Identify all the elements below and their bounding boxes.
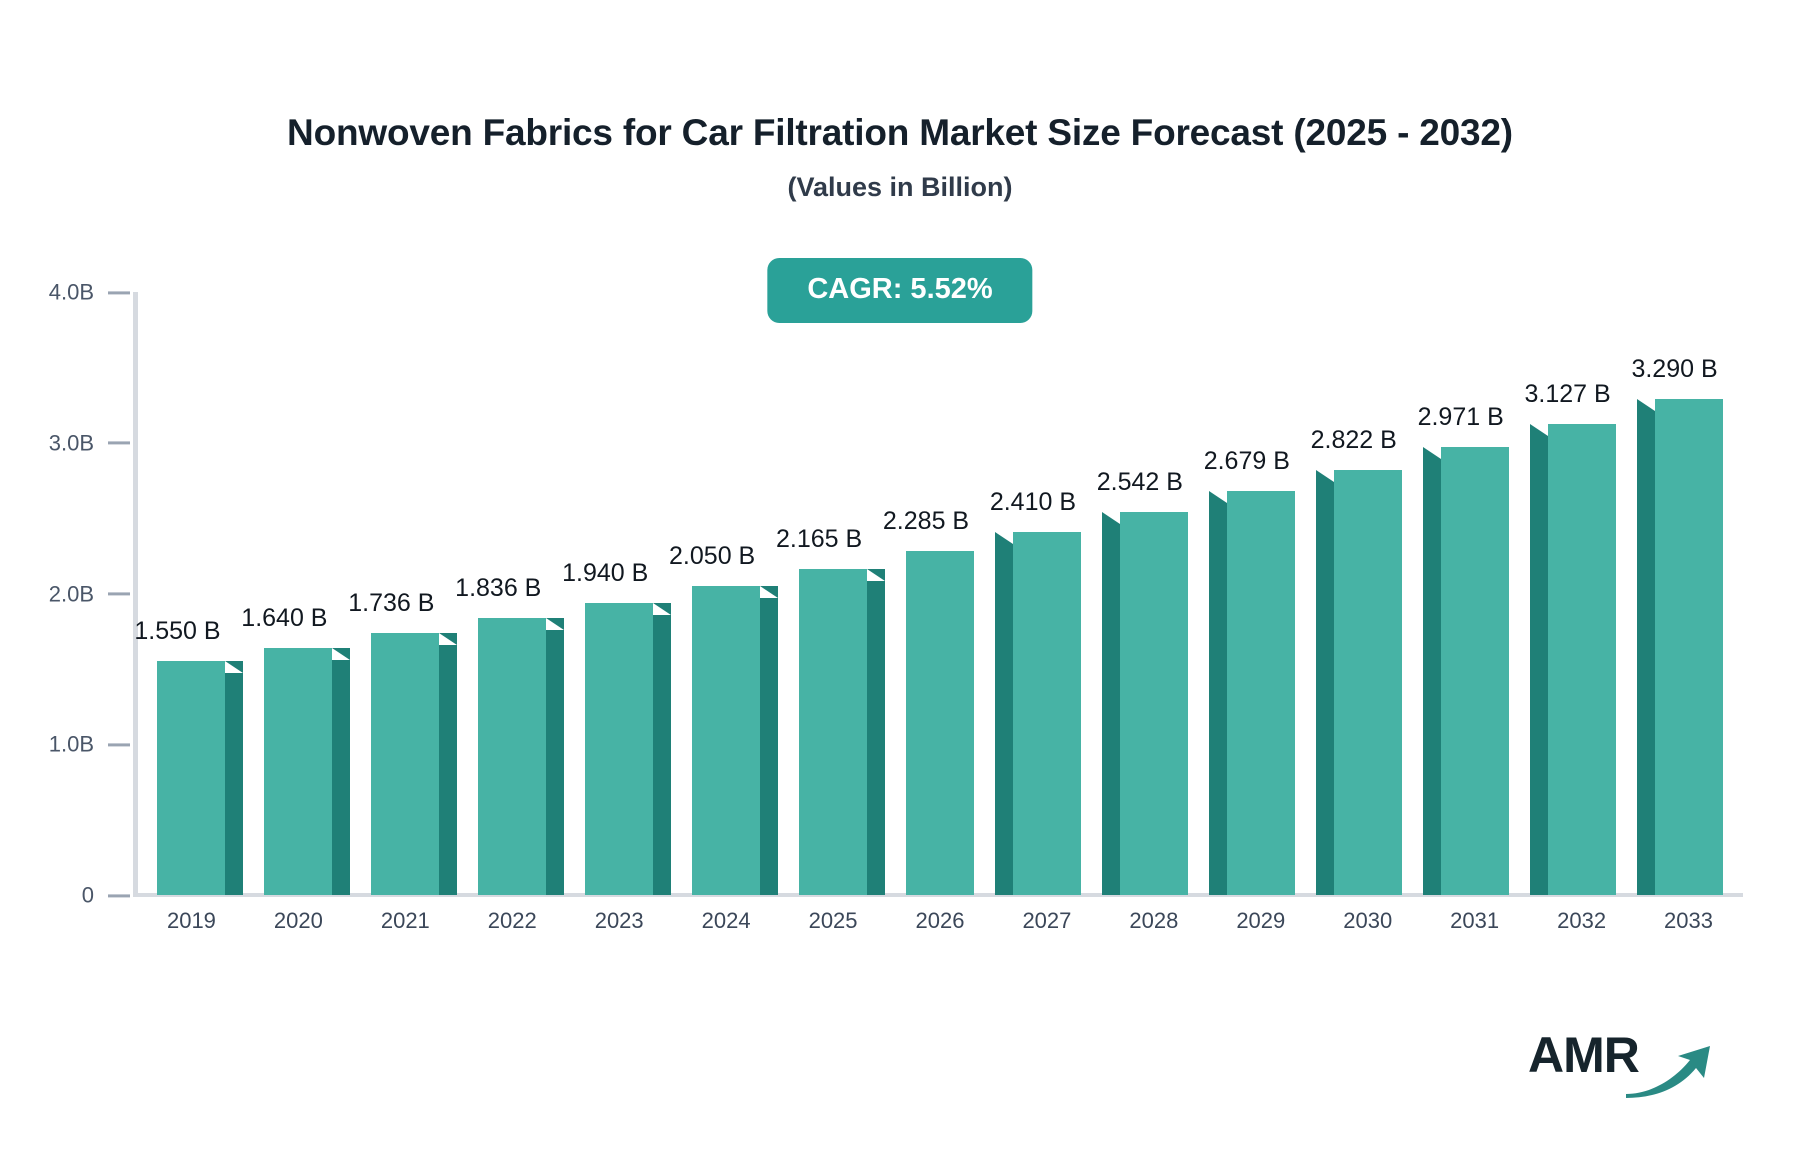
- y-axis-tick-label: 3.0B: [49, 430, 94, 455]
- x-axis-tick-label: 2020: [274, 908, 323, 934]
- bar-value-label: 1.836 B: [455, 574, 541, 603]
- bar-side-face: [1530, 436, 1548, 895]
- bar-side-face: [867, 581, 885, 895]
- bar-side-face: [995, 544, 1013, 895]
- bar-value-label: 2.822 B: [1311, 426, 1397, 455]
- bar-side-face: [332, 660, 350, 895]
- bar-side-face: [653, 615, 671, 895]
- y-axis-tick-label: 0: [82, 883, 94, 908]
- x-axis-tick-label: 2021: [381, 908, 430, 934]
- y-axis-tick-mark: [108, 442, 130, 445]
- bar-top-face: [546, 618, 564, 630]
- bar-side-face: [225, 673, 243, 895]
- bar-top-face: [225, 661, 243, 673]
- bar: [906, 551, 974, 895]
- bar: [1120, 512, 1188, 895]
- bar-value-label: 2.050 B: [669, 542, 755, 571]
- bar-side-face: [546, 630, 564, 895]
- bar-top-face: [653, 603, 671, 615]
- bar: [157, 661, 225, 895]
- amr-logo-text: AMR: [1528, 1030, 1639, 1080]
- bar-side-face: [760, 598, 778, 895]
- y-axis-tick: 2.0B: [0, 580, 130, 607]
- bar-front-face: [906, 551, 974, 895]
- bar-side-face: [1423, 459, 1441, 895]
- bar-front-face: [692, 586, 760, 895]
- y-axis-tick-label: 1.0B: [49, 732, 94, 757]
- x-axis-tick-label: 2024: [702, 908, 751, 934]
- bar-side-face: [1102, 524, 1120, 895]
- bar-value-label: 2.285 B: [883, 507, 969, 536]
- y-axis-tick: 1.0B: [0, 731, 130, 758]
- y-axis-line: [133, 292, 138, 895]
- x-axis-tick-label: 2025: [809, 908, 858, 934]
- bar-value-label: 1.940 B: [562, 559, 648, 588]
- y-axis-tick-mark: [108, 894, 130, 897]
- bar-value-label: 2.410 B: [990, 488, 1076, 517]
- bar-top-face: [867, 569, 885, 581]
- bar-side-face: [1316, 482, 1334, 895]
- bar-front-face: [1227, 491, 1295, 895]
- x-axis-tick-label: 2031: [1450, 908, 1499, 934]
- bar: [1013, 532, 1081, 895]
- bar-front-face: [1548, 424, 1616, 895]
- x-axis-tick-label: 2026: [916, 908, 965, 934]
- growth-arrow-icon: [1624, 1044, 1716, 1098]
- bar-value-label: 2.679 B: [1204, 447, 1290, 476]
- bar-value-label: 1.736 B: [348, 589, 434, 618]
- bar: [1441, 447, 1509, 895]
- bar-value-label: 1.550 B: [134, 617, 220, 646]
- chart-page: Nonwoven Fabrics for Car Filtration Mark…: [0, 0, 1800, 1156]
- bar-value-label: 2.165 B: [776, 525, 862, 554]
- y-axis-tick: 0: [0, 881, 130, 908]
- bar-side-face: [439, 645, 457, 895]
- x-axis-tick-label: 2030: [1343, 908, 1392, 934]
- amr-logo: AMR: [1528, 1028, 1718, 1098]
- bar-front-face: [371, 633, 439, 895]
- bar-side-face: [1209, 503, 1227, 895]
- y-axis-tick: 3.0B: [0, 429, 130, 456]
- x-axis-tick-label: 2019: [167, 908, 216, 934]
- bar-value-label: 3.127 B: [1525, 380, 1611, 409]
- bar-top-face: [1530, 424, 1548, 436]
- bar-top-face: [439, 633, 457, 645]
- y-axis-tick-mark: [108, 593, 130, 596]
- x-axis-tick-label: 2033: [1664, 908, 1713, 934]
- y-axis-tick-label: 4.0B: [49, 280, 94, 305]
- x-axis-tick-label: 2027: [1022, 908, 1071, 934]
- bar-top-face: [332, 648, 350, 660]
- bar-front-face: [1441, 447, 1509, 895]
- bar: [1655, 399, 1723, 895]
- bar-value-label: 2.971 B: [1418, 403, 1504, 432]
- bar-top-face: [760, 586, 778, 598]
- bar-top-face: [1637, 399, 1655, 411]
- bar-chart-plot: 01.0B2.0B3.0B4.0B1.550 B20191.640 B20201…: [0, 0, 1800, 1156]
- bar-front-face: [1655, 399, 1723, 895]
- bar-value-label: 1.640 B: [241, 604, 327, 633]
- y-axis-tick: 4.0B: [0, 278, 130, 305]
- x-axis-tick-label: 2028: [1129, 908, 1178, 934]
- x-axis-tick-label: 2023: [595, 908, 644, 934]
- bar: [799, 569, 867, 895]
- bar-top-face: [1102, 512, 1120, 524]
- bar-top-face: [1316, 470, 1334, 482]
- x-axis-tick-label: 2032: [1557, 908, 1606, 934]
- bar-front-face: [1120, 512, 1188, 895]
- y-axis-tick-label: 2.0B: [49, 581, 94, 606]
- bar: [585, 603, 653, 895]
- bar-front-face: [1334, 470, 1402, 895]
- bar-front-face: [1013, 532, 1081, 895]
- bar-value-label: 2.542 B: [1097, 468, 1183, 497]
- bar-top-face: [1423, 447, 1441, 459]
- bar-side-face: [1637, 411, 1655, 895]
- x-axis-tick-label: 2022: [488, 908, 537, 934]
- bar-value-label: 3.290 B: [1631, 355, 1717, 384]
- x-axis-tick-label: 2029: [1236, 908, 1285, 934]
- bar: [1548, 424, 1616, 895]
- bar-front-face: [478, 618, 546, 895]
- bar-front-face: [157, 661, 225, 895]
- y-axis-tick-mark: [108, 743, 130, 746]
- bar-front-face: [264, 648, 332, 895]
- bar-front-face: [799, 569, 867, 895]
- bar: [264, 648, 332, 895]
- bar: [478, 618, 546, 895]
- bar: [371, 633, 439, 895]
- y-axis-tick-mark: [108, 291, 130, 294]
- bar: [692, 586, 760, 895]
- bar-top-face: [1209, 491, 1227, 503]
- bar-top-face: [995, 532, 1013, 544]
- bar: [1334, 470, 1402, 895]
- bar: [1227, 491, 1295, 895]
- bar-front-face: [585, 603, 653, 895]
